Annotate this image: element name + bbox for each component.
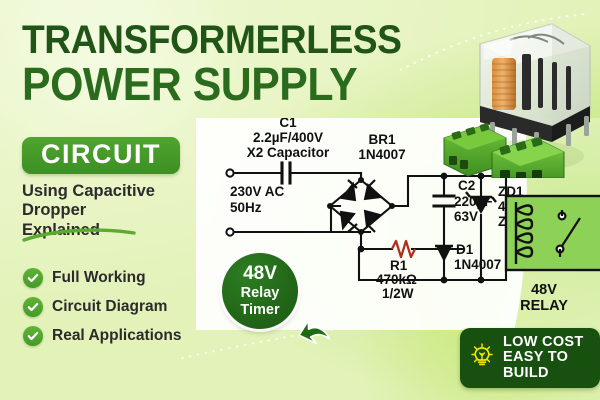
circuit-badge: CIRCUIT (22, 137, 180, 174)
check-icon (23, 297, 43, 317)
relay-voltage-label: 48V (531, 282, 557, 298)
headline-block: TRANSFORMERLESS POWER SUPPLY (22, 22, 442, 106)
relay-stamp-line-2: Relay (241, 285, 280, 301)
relay-timer-stamp: 48V Relay Timer (222, 253, 298, 329)
feature-label: Circuit Diagram (52, 298, 167, 316)
source-frequency: 50Hz (230, 200, 262, 215)
list-item: Full Working (23, 268, 181, 288)
relay-name-label: RELAY (520, 298, 568, 314)
c1-ref: C1 (279, 118, 297, 130)
arrow-pointer-icon (296, 318, 330, 352)
circuit-badge-label: CIRCUIT (41, 141, 161, 168)
feature-label: Real Applications (52, 327, 181, 345)
low-cost-line-2: EASY TO BUILD (503, 350, 588, 381)
check-icon (23, 326, 43, 346)
feature-list: Full Working Circuit Diagram Real Applic… (23, 268, 181, 355)
feature-label: Full Working (52, 269, 146, 287)
relay-stamp-line-3: Timer (240, 302, 279, 318)
title-line-2: POWER SUPPLY (22, 63, 413, 106)
poster-canvas: C2 220µF 63V ZD1 48V Zener (0, 0, 600, 400)
c2-ref: C2 (458, 178, 475, 193)
c2-rating: 63V (454, 209, 478, 224)
d1-part: 1N4007 (454, 257, 501, 272)
low-cost-line-1: LOW COST (503, 335, 588, 350)
d1-ref: D1 (456, 242, 474, 257)
list-item: Real Applications (23, 326, 181, 346)
check-icon (23, 268, 43, 288)
br1-part: 1N4007 (358, 147, 405, 162)
lightbulb-icon (470, 342, 494, 375)
c1-note: X2 Capacitor (247, 145, 330, 160)
r1-value: 470kΩ (376, 272, 417, 287)
subtitle-underline-swoosh (22, 228, 136, 242)
relay-coil (492, 58, 516, 110)
subtitle-line-1: Using Capacitive Dropper (22, 182, 202, 221)
low-cost-badge: LOW COST EASY TO BUILD (460, 328, 600, 388)
c1-value: 2.2µF/400V (253, 130, 323, 145)
r1-power: 1/2W (382, 286, 414, 301)
title-line-1: TRANSFORMERLESS (22, 22, 413, 59)
source-voltage: 230V AC (230, 184, 285, 199)
relay-stamp-line-1: 48V (243, 264, 277, 283)
r1-ref: R1 (390, 258, 408, 273)
list-item: Circuit Diagram (23, 297, 181, 317)
br1-ref: BR1 (368, 132, 395, 147)
relay-module-photo (440, 6, 600, 178)
relay-symbol-block (506, 196, 600, 270)
